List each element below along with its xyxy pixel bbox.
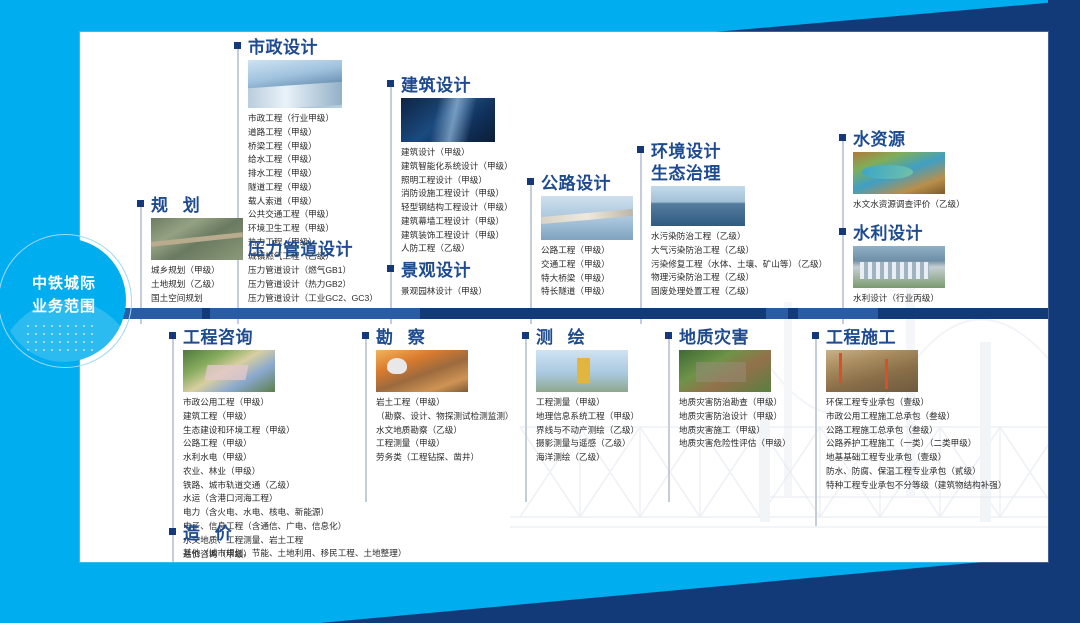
bullet-marker — [665, 332, 672, 339]
bullet-marker — [387, 80, 394, 87]
list-item: 地理信息系统工程（甲级） — [536, 410, 685, 424]
group-thumbnail — [853, 246, 945, 288]
group-thumbnail — [401, 98, 495, 142]
list-item: 造价咨询（甲级） — [183, 548, 322, 562]
timeline-segment — [766, 308, 788, 319]
group-item-list: 城乡规划（甲级） 土地规划（乙级） 国土空间规划 — [151, 264, 270, 305]
bullet-marker — [137, 200, 144, 207]
group-thumbnail — [183, 350, 275, 392]
list-item: 公共交通工程（甲级） — [248, 208, 407, 222]
list-item: 固废处理处置工程（乙级） — [651, 285, 860, 299]
group-rule — [140, 202, 142, 324]
group-title: 规 划 — [151, 196, 270, 216]
group-zaojia: 造 价 造价咨询（甲级） — [172, 524, 322, 562]
list-item: 环保工程专业承包（壹级） — [826, 396, 1045, 410]
group-thumbnail — [679, 350, 771, 392]
group-huanjing: 环境设计 生态治理 水污染防治工程（乙级） 大气污染防治工程（乙级） 污染修复工… — [640, 142, 860, 299]
list-item: 污染修复工程（水体、土壤、矿山等）（乙级） — [651, 258, 860, 272]
group-rule — [815, 334, 817, 526]
group-cehui: 测 绘 工程测量（甲级） 地理信息系统工程（甲级） 界线与不动产测绘（乙级） 摄… — [525, 328, 685, 465]
bullet-marker — [169, 528, 176, 535]
group-thumbnail — [376, 350, 468, 392]
group-title: 景观设计 — [401, 261, 550, 281]
group-rule — [365, 334, 367, 502]
list-item: 农业、林业（甲级） — [183, 465, 422, 479]
group-title: 水利设计 — [853, 224, 1002, 244]
content-panel: 市政设计 市政工程（行业甲级） 道路工程（甲级） 桥梁工程（甲级） 给水工程（甲… — [80, 32, 1048, 562]
group-title: 环境设计 — [651, 142, 860, 162]
list-item: 水文地质勘察（乙级） — [376, 424, 525, 438]
group-guihua: 规 划 城乡规划（甲级） 土地规划（乙级） 国土空间规划 — [140, 196, 270, 305]
bullet-marker — [169, 332, 176, 339]
bullet-marker — [839, 134, 846, 141]
list-item: 地基基础工程专业承包（壹级） — [826, 451, 1045, 465]
group-rule — [640, 148, 642, 324]
group-item-list: 环保工程专业承包（壹级） 市政公用工程施工总承包（叁级） 公路工程施工总承包（叁… — [826, 396, 1045, 492]
list-item: 摄影测量与遥感（乙级） — [536, 437, 685, 451]
list-item: 工程测量（甲级） — [536, 396, 685, 410]
company-badge: 中铁城际 业务范围 — [2, 238, 126, 362]
group-rule — [530, 180, 532, 324]
group-subtitle: 生态治理 — [651, 164, 860, 184]
group-kancha: 勘 察 岩土工程（甲级） （勘察、设计、物探测试检测监测） 水文地质勘察（乙级）… — [365, 328, 525, 465]
list-item: 水运（含港口河海工程） — [183, 492, 422, 506]
bullet-marker — [839, 228, 846, 235]
timeline-segment — [210, 308, 420, 319]
group-rule — [668, 334, 670, 502]
group-shigong: 工程施工 环保工程专业承包（壹级） 市政公用工程施工总承包（叁级） 公路工程施工… — [815, 328, 1045, 492]
group-rule — [525, 334, 527, 502]
group-dizhi: 地质灾害 地质灾害防治勘查（甲级） 地质灾害防治设计（甲级） 地质灾害施工（甲级… — [668, 328, 838, 451]
badge-label: 中铁城际 业务范围 — [2, 272, 126, 319]
group-item-list: 岩土工程（甲级） （勘察、设计、物探测试检测监测） 水文地质勘察（乙级） 工程测… — [376, 396, 525, 465]
badge-line-1: 中铁城际 — [2, 272, 126, 295]
group-thumbnail — [826, 350, 918, 392]
list-item: 隧道工程（甲级） — [248, 181, 407, 195]
list-item: 景观园林设计（甲级） — [401, 285, 550, 299]
group-title: 勘 察 — [376, 328, 525, 348]
list-item: 劳务类（工程钻探、凿井） — [376, 451, 525, 465]
bullet-marker — [234, 42, 241, 49]
group-item-list: 水污染防治工程（乙级） 大气污染防治工程（乙级） 污染修复工程（水体、土壤、矿山… — [651, 230, 860, 299]
list-item: 工程测量（甲级） — [376, 437, 525, 451]
list-item: 特种工程专业承包不分等级（建筑物结构补强） — [826, 479, 1045, 493]
list-item: 市政公用工程施工总承包（叁级） — [826, 410, 1045, 424]
list-item: 岩土工程（甲级） — [376, 396, 525, 410]
group-thumbnail — [651, 186, 745, 226]
group-item-list: 水利设计（行业丙级） — [853, 292, 1002, 306]
group-title: 测 绘 — [536, 328, 685, 348]
group-title: 水资源 — [853, 130, 1002, 150]
group-item-list: 景观园林设计（甲级） — [401, 285, 550, 299]
group-jingguan: 景观设计 景观园林设计（甲级） — [390, 261, 550, 299]
list-item: 土地规划（乙级） — [151, 278, 270, 292]
list-item: 给水工程（甲级） — [248, 153, 407, 167]
group-item-list: 造价咨询（甲级） — [183, 548, 322, 562]
list-item: 铁路、城市轨道交通（乙级） — [183, 479, 422, 493]
badge-line-2: 业务范围 — [2, 295, 126, 318]
list-item: 载人索道（甲级） — [248, 195, 407, 209]
group-thumbnail — [541, 196, 633, 240]
group-thumbnail — [248, 60, 342, 108]
bullet-marker — [387, 265, 394, 272]
list-item: 排水工程（甲级） — [248, 167, 407, 181]
list-item: 电力（含火电、水电、核电、新能源） — [183, 506, 422, 520]
group-thumbnail — [536, 350, 628, 392]
list-item: 国土空间规划 — [151, 292, 270, 306]
list-item: 道路工程（甲级） — [248, 126, 407, 140]
list-item: 水利设计（行业丙级） — [853, 292, 1002, 306]
list-item: 水污染防治工程（乙级） — [651, 230, 860, 244]
list-item: （勘察、设计、物探测试检测监测） — [376, 410, 525, 424]
bullet-marker — [637, 146, 644, 153]
list-item: 海洋测绘（乙级） — [536, 451, 685, 465]
list-item: 公路工程施工总承包（叁级） — [826, 424, 1045, 438]
list-item: 大气污染防治工程（乙级） — [651, 244, 860, 258]
list-item: 桥梁工程（甲级） — [248, 140, 407, 154]
group-title: 市政设计 — [248, 38, 407, 58]
list-item: 水文水资源调查评价（乙级） — [853, 198, 1002, 212]
group-thumbnail — [151, 218, 243, 260]
list-item: 市政工程（行业甲级） — [248, 112, 407, 126]
infographic-canvas: 市政设计 市政工程（行业甲级） 道路工程（甲级） 桥梁工程（甲级） 给水工程（甲… — [0, 0, 1080, 623]
group-item-list: 工程测量（甲级） 地理信息系统工程（甲级） 界线与不动产测绘（乙级） 摄影测量与… — [536, 396, 685, 465]
badge-dot-pattern — [24, 322, 94, 352]
list-item: 建筑智能化系统设计（甲级） — [401, 160, 560, 174]
background-navy-right-bar — [1048, 0, 1080, 623]
bullet-marker — [812, 332, 819, 339]
list-item: 城乡规划（甲级） — [151, 264, 270, 278]
group-item-list: 水文水资源调查评价（乙级） — [853, 198, 1002, 212]
group-title: 建筑设计 — [401, 76, 560, 96]
timeline-segment — [798, 308, 878, 319]
list-item: 界线与不动产测绘（乙级） — [536, 424, 685, 438]
group-thumbnail — [853, 152, 945, 194]
list-item: 公路养护工程施工（一类）（二类甲级） — [826, 437, 1045, 451]
bullet-marker — [362, 332, 369, 339]
timeline-segment — [122, 308, 202, 319]
group-title: 工程施工 — [826, 328, 1045, 348]
group-shuili: 水利设计 水利设计（行业丙级） — [842, 224, 1002, 306]
bullet-marker — [522, 332, 529, 339]
list-item: 物理污染防治工程（乙级） — [651, 271, 860, 285]
group-title: 造 价 — [183, 524, 322, 544]
timeline-bar — [86, 308, 1048, 319]
list-item: 建筑设计（甲级） — [401, 146, 560, 160]
list-item: 防水、防腐、保温工程专业承包（贰级） — [826, 465, 1045, 479]
group-shuiziyuan: 水资源 水文水资源调查评价（乙级） — [842, 130, 1002, 212]
list-item: 环境卫生工程（甲级） — [248, 222, 407, 236]
bullet-marker — [527, 178, 534, 185]
